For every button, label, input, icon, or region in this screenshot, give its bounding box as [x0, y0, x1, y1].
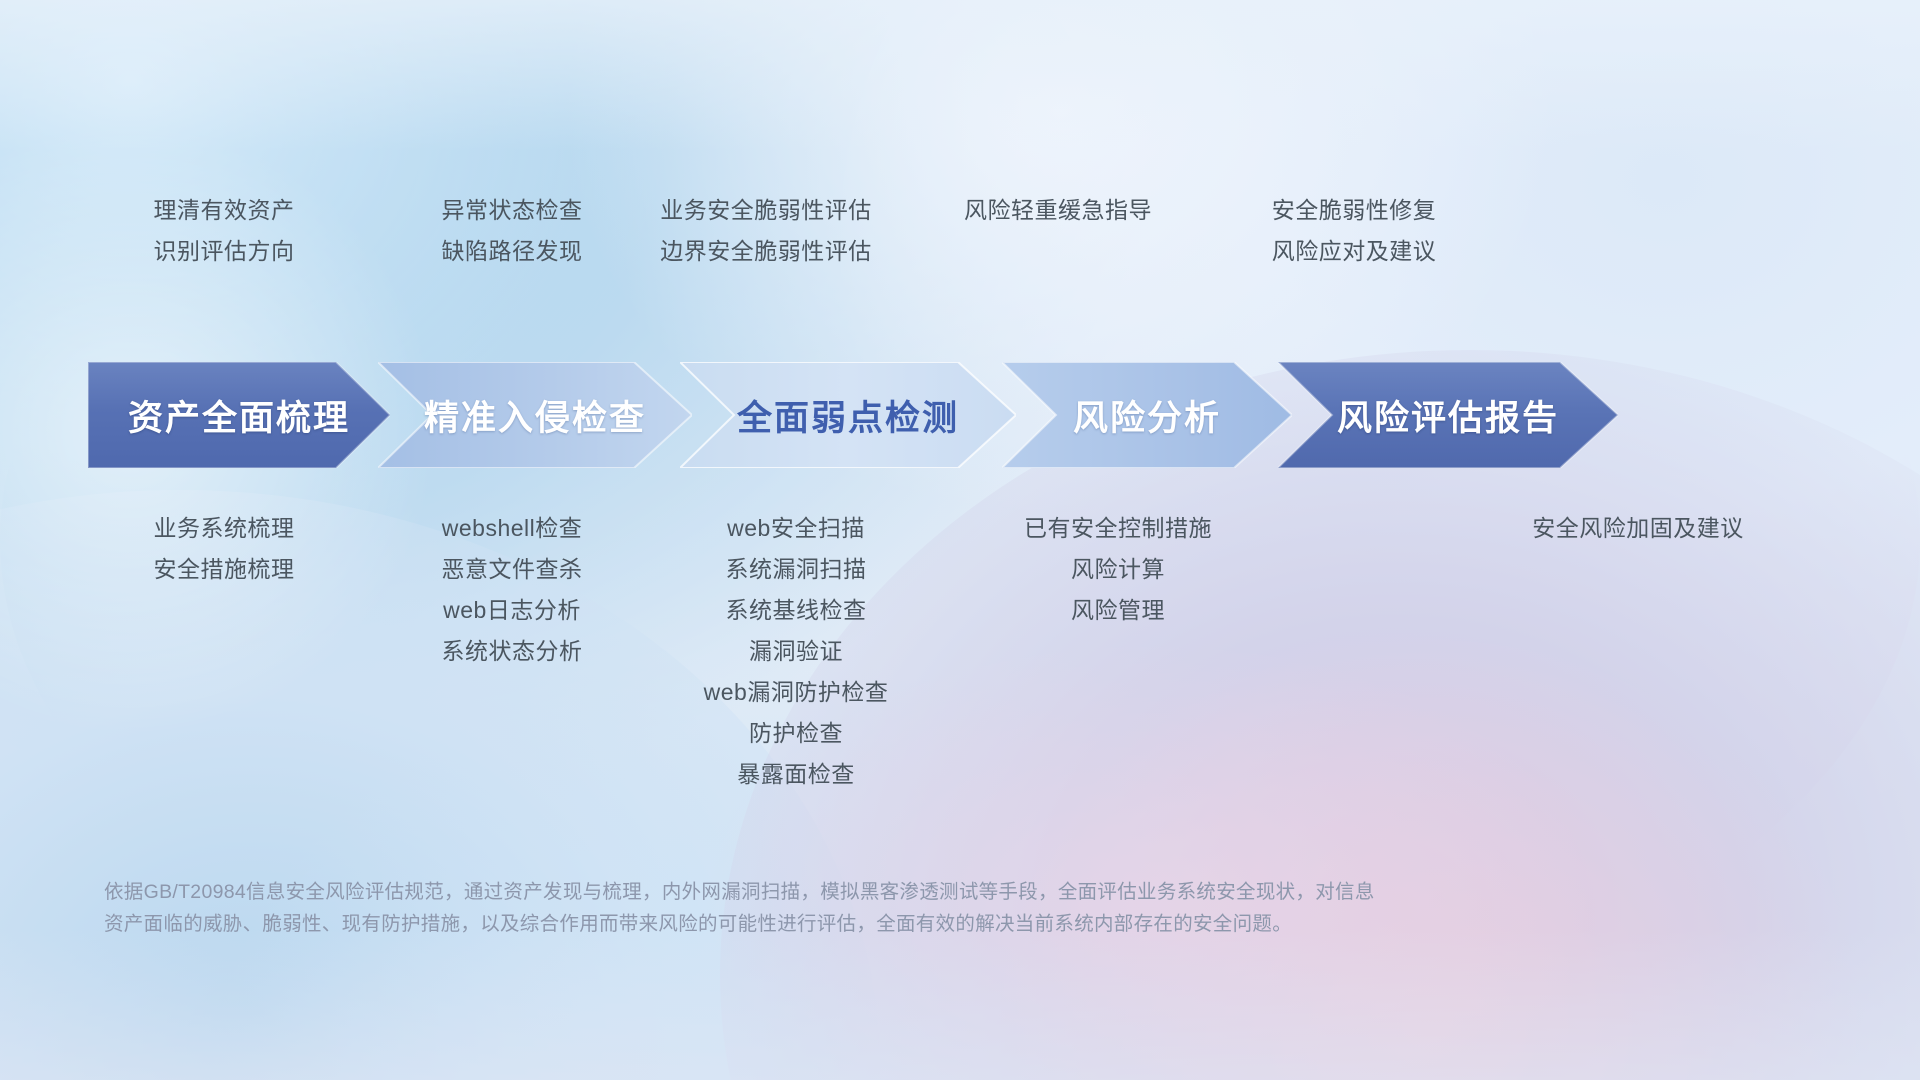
- bottom-item: 系统状态分析: [352, 631, 672, 672]
- top-item: 风险轻重缓急指导: [898, 190, 1218, 231]
- footer-line-2: 资产面临的威胁、脆弱性、现有防护措施，以及综合作用而带来风险的可能性进行评估，全…: [104, 908, 1604, 940]
- bottom-item: 安全风险加固及建议: [1408, 508, 1868, 549]
- chevron-stage-risk-report[interactable]: 风险评估报告: [1278, 362, 1618, 468]
- chevron-stage-weakness-detection[interactable]: 全面弱点检测: [680, 362, 1016, 468]
- chevron-label: 风险分析: [1073, 390, 1221, 441]
- bottom-item: 业务系统梳理: [64, 508, 384, 549]
- bottom-item: 已有安全控制措施: [958, 508, 1278, 549]
- chevron-stage-intrusion-check[interactable]: 精准入侵检查: [378, 362, 692, 468]
- bottom-item: webshell检查: [352, 508, 672, 549]
- bottom-item: 安全措施梳理: [64, 549, 384, 590]
- bottom-items-risk-analysis: 已有安全控制措施 风险计算 风险管理: [958, 508, 1278, 631]
- bottom-item: 系统漏洞扫描: [636, 549, 956, 590]
- top-items-weakness-detection: 业务安全脆弱性评估 边界安全脆弱性评估: [606, 190, 926, 272]
- bottom-item: 系统基线检查: [636, 590, 956, 631]
- top-items-asset-inventory: 理清有效资产 识别评估方向: [64, 190, 384, 272]
- bottom-item: 恶意文件查杀: [352, 549, 672, 590]
- bottom-item: web漏洞防护检查: [636, 672, 956, 713]
- top-item: 风险应对及建议: [1194, 231, 1514, 272]
- chevron-label: 精准入侵检查: [424, 390, 646, 441]
- bottom-items-intrusion-check: webshell检查 恶意文件查杀 web日志分析 系统状态分析: [352, 508, 672, 672]
- top-item: 安全脆弱性修复: [1194, 190, 1514, 231]
- chevron-stage-risk-analysis[interactable]: 风险分析: [1002, 362, 1292, 468]
- bottom-item: web日志分析: [352, 590, 672, 631]
- bottom-item: 暴露面检查: [636, 754, 956, 795]
- bottom-items-risk-report: 安全风险加固及建议: [1408, 508, 1868, 549]
- top-item: 业务安全脆弱性评估: [606, 190, 926, 231]
- top-items-risk-report: 安全脆弱性修复 风险应对及建议: [1194, 190, 1514, 272]
- bottom-item: 防护检查: [636, 713, 956, 754]
- chevron-label: 全面弱点检测: [737, 390, 959, 441]
- chevron-label: 资产全面梳理: [128, 390, 350, 441]
- top-item: 识别评估方向: [64, 231, 384, 272]
- footer-line-1: 依据GB/T20984信息安全风险评估规范，通过资产发现与梳理，内外网漏洞扫描，…: [104, 876, 1604, 908]
- bottom-item: 风险计算: [958, 549, 1278, 590]
- top-items-risk-analysis: 风险轻重缓急指导: [898, 190, 1218, 231]
- chevron-stage-asset-inventory[interactable]: 资产全面梳理: [88, 362, 390, 468]
- bottom-items-asset-inventory: 业务系统梳理 安全措施梳理: [64, 508, 384, 590]
- bottom-item: 风险管理: [958, 590, 1278, 631]
- process-chevron-band: 资产全面梳理 精准入侵检查: [0, 362, 1920, 468]
- bottom-item: web安全扫描: [636, 508, 956, 549]
- chevron-label: 风险评估报告: [1337, 390, 1559, 441]
- top-item: 边界安全脆弱性评估: [606, 231, 926, 272]
- bottom-items-weakness-detection: web安全扫描 系统漏洞扫描 系统基线检查 漏洞验证 web漏洞防护检查 防护检…: [636, 508, 956, 795]
- bottom-item: 漏洞验证: [636, 631, 956, 672]
- footer-description: 依据GB/T20984信息安全风险评估规范，通过资产发现与梳理，内外网漏洞扫描，…: [104, 876, 1604, 940]
- top-item: 理清有效资产: [64, 190, 384, 231]
